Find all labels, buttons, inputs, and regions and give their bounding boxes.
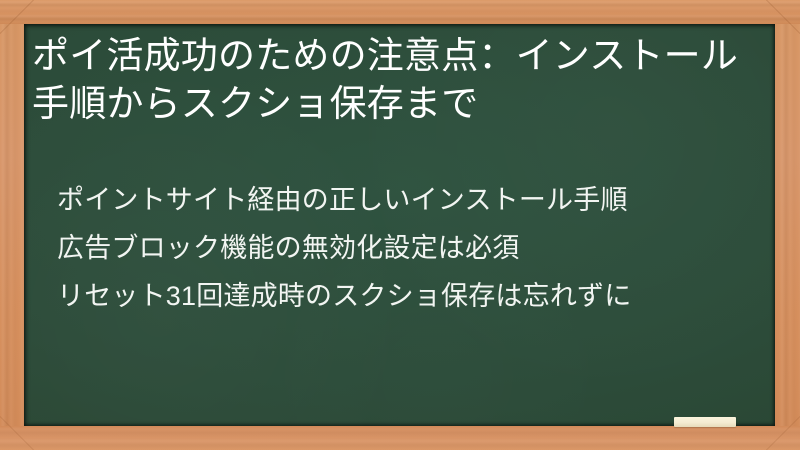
chalkboard-surface: ポイ活成功のための注意点：インストール手順からスクショ保存まで ポイントサイト経…: [24, 24, 775, 426]
frame-rail-bottom: [0, 426, 800, 450]
chalkboard-slide: ポイ活成功のための注意点：インストール手順からスクショ保存まで ポイントサイト経…: [0, 0, 800, 450]
point-list-item: リセット31回達成時のスクショ保存は忘れずに: [57, 272, 757, 320]
point-list-item: 広告ブロック機能の無効化設定は必須: [57, 224, 757, 272]
slide-title: ポイ活成功のための注意点：インストール手順からスクショ保存まで: [32, 32, 762, 128]
point-list: ポイントサイト経由の正しいインストール手順 広告ブロック機能の無効化設定は必須 …: [57, 176, 757, 320]
chalkboard-content: ポイ活成功のための注意点：インストール手順からスクショ保存まで ポイントサイト経…: [24, 24, 775, 426]
point-list-item: ポイントサイト経由の正しいインストール手順: [57, 176, 757, 224]
chalk-stick: [674, 417, 736, 427]
frame-rail-top: [0, 0, 800, 24]
